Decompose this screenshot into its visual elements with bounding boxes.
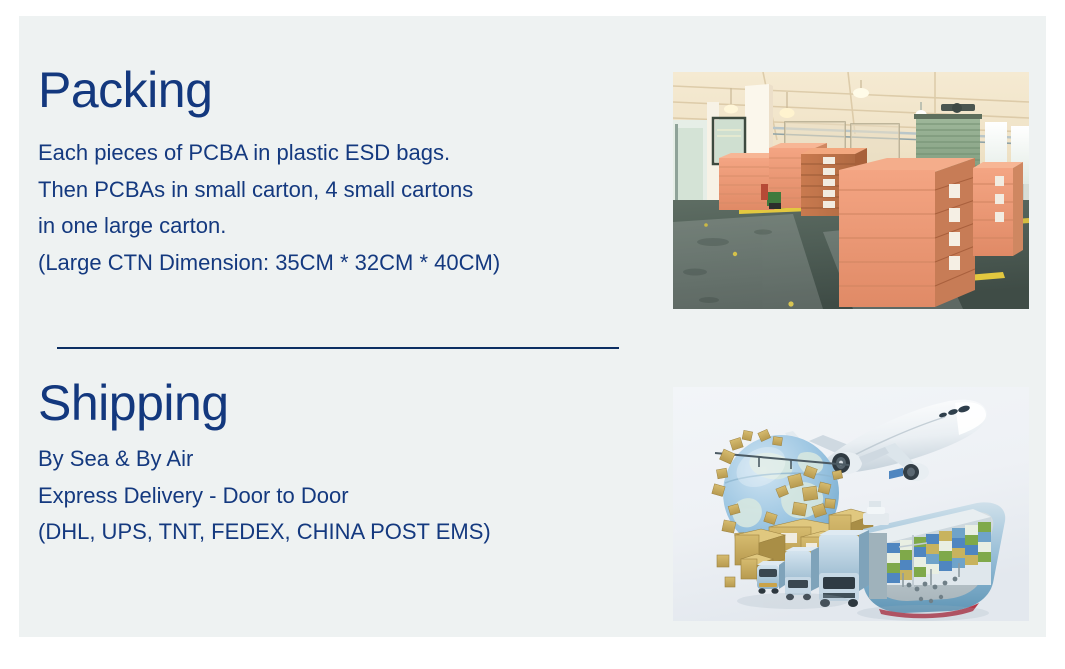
global-logistics-photo (673, 387, 1029, 621)
packing-line: Then PCBAs in small carton, 4 small cart… (38, 172, 500, 209)
packing-line: Each pieces of PCBA in plastic ESD bags. (38, 135, 500, 172)
shipping-line: (DHL, UPS, TNT, FEDEX, CHINA POST EMS) (38, 514, 491, 551)
packing-line: (Large CTN Dimension: 35CM * 32CM * 40CM… (38, 245, 500, 282)
shipping-heading: Shipping (38, 374, 491, 432)
packing-shipping-infographic: Packing Each pieces of PCBA in plastic E… (0, 0, 1065, 669)
packing-line: in one large carton. (38, 208, 500, 245)
shipping-line: By Sea & By Air (38, 441, 491, 478)
shipping-line: Express Delivery - Door to Door (38, 478, 491, 515)
warehouse-illustration (673, 72, 1029, 309)
packing-section: Packing Each pieces of PCBA in plastic E… (38, 61, 500, 281)
warehouse-packing-photo (673, 72, 1029, 309)
logistics-illustration (673, 387, 1029, 621)
section-divider (57, 347, 619, 349)
content-panel: Packing Each pieces of PCBA in plastic E… (19, 16, 1046, 637)
shipping-section: Shipping By Sea & By Air Express Deliver… (38, 374, 491, 551)
packing-text-lines: Each pieces of PCBA in plastic ESD bags.… (38, 135, 500, 281)
packing-heading: Packing (38, 61, 500, 119)
shipping-text-lines: By Sea & By Air Express Delivery - Door … (38, 441, 491, 551)
